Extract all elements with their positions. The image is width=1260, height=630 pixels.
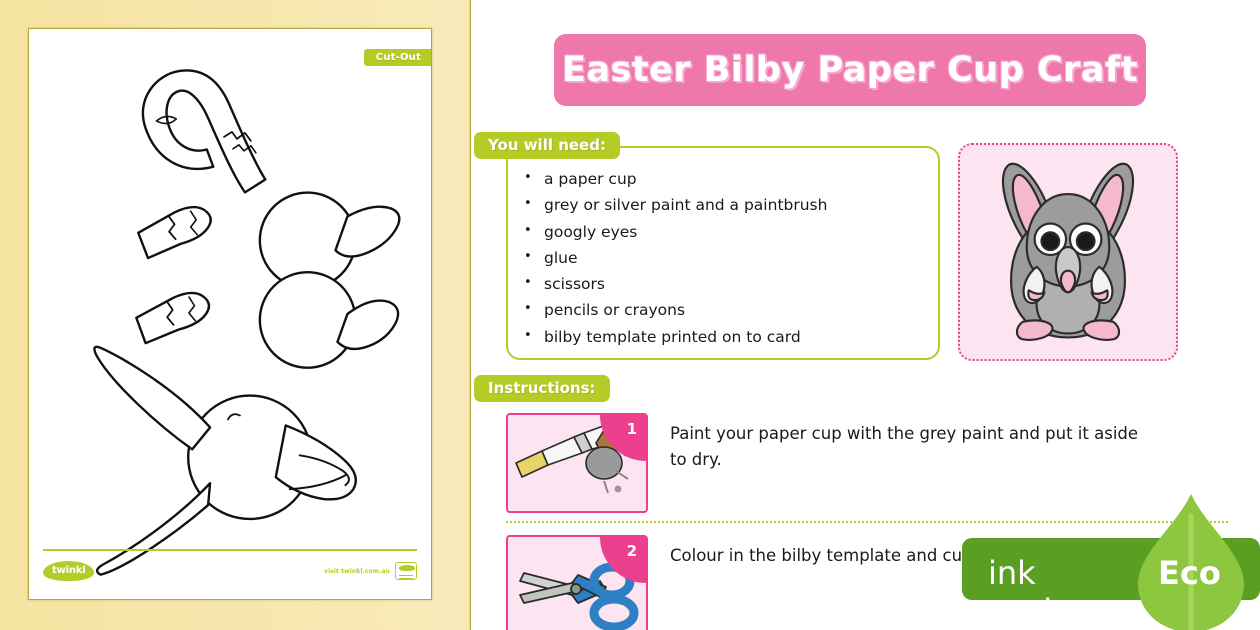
page-footer: twinkl visit twinkl.com.au bbox=[43, 549, 417, 587]
cutout-template-page: Cut-Out bbox=[28, 28, 432, 600]
step-2-thumbnail: 2 bbox=[506, 535, 648, 630]
list-item: grey or silver paint and a paintbrush bbox=[522, 192, 827, 218]
list-item: scissors bbox=[522, 271, 827, 297]
list-item: bilby template printed on to card bbox=[522, 324, 827, 350]
twinkl-logo: twinkl bbox=[43, 561, 94, 581]
eco-word: Eco bbox=[1158, 554, 1221, 592]
bilby-photo-card bbox=[958, 143, 1178, 361]
bilby-illustration bbox=[960, 145, 1176, 359]
list-item: a paper cup bbox=[522, 166, 827, 192]
list-item: glue bbox=[522, 245, 827, 271]
page-title: Easter Bilby Paper Cup Craft bbox=[562, 50, 1138, 90]
footer-url: visit twinkl.com.au bbox=[324, 568, 390, 575]
title-banner: Easter Bilby Paper Cup Craft bbox=[554, 34, 1146, 106]
step-1-thumbnail: 1 bbox=[506, 413, 648, 513]
footer-right-group: visit twinkl.com.au bbox=[324, 562, 417, 580]
you-will-need-section: You will need: a paper cup grey or silve… bbox=[470, 132, 940, 364]
bilby-template-artwork bbox=[29, 29, 431, 599]
materials-list: a paper cup grey or silver paint and a p… bbox=[522, 166, 827, 350]
list-item: pencils or crayons bbox=[522, 297, 827, 323]
screenshot-stage: Cut-Out bbox=[0, 0, 1260, 630]
list-item: googly eyes bbox=[522, 219, 827, 245]
instructions-heading: Instructions: bbox=[474, 375, 610, 402]
steps-divider bbox=[506, 521, 1228, 523]
twinkl-footer-badge-icon bbox=[395, 562, 417, 580]
step-1-text: Paint your paper cup with the grey paint… bbox=[670, 413, 1150, 473]
instruction-step-1: 1 Paint your pape bbox=[506, 413, 1150, 513]
you-will-need-heading: You will need: bbox=[474, 132, 620, 159]
eco-label: ink saving bbox=[988, 554, 1093, 630]
